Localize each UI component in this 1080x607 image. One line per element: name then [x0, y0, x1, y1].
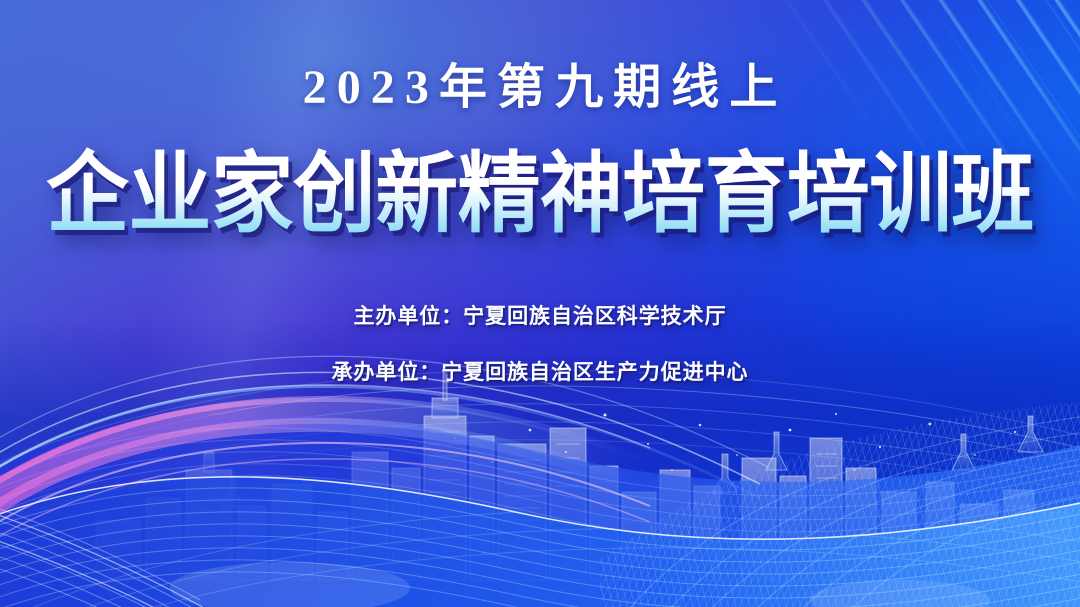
page-title: 企业家创新精神培育培训班	[32, 150, 1047, 238]
organizer-line: 主办单位：宁夏回族自治区科学技术厅	[0, 300, 1080, 330]
undertaker-line: 承办单位：宁夏回族自治区生产力促进中心	[0, 356, 1080, 386]
page-title-text: 企业家创新精神培育培训班	[46, 144, 1034, 243]
event-edition-title: 2023年第九期线上	[0, 64, 1080, 112]
poster-banner: 2023年第九期线上 企业家创新精神培育培训班 主办单位：宁夏回族自治区科学技术…	[0, 0, 1080, 607]
